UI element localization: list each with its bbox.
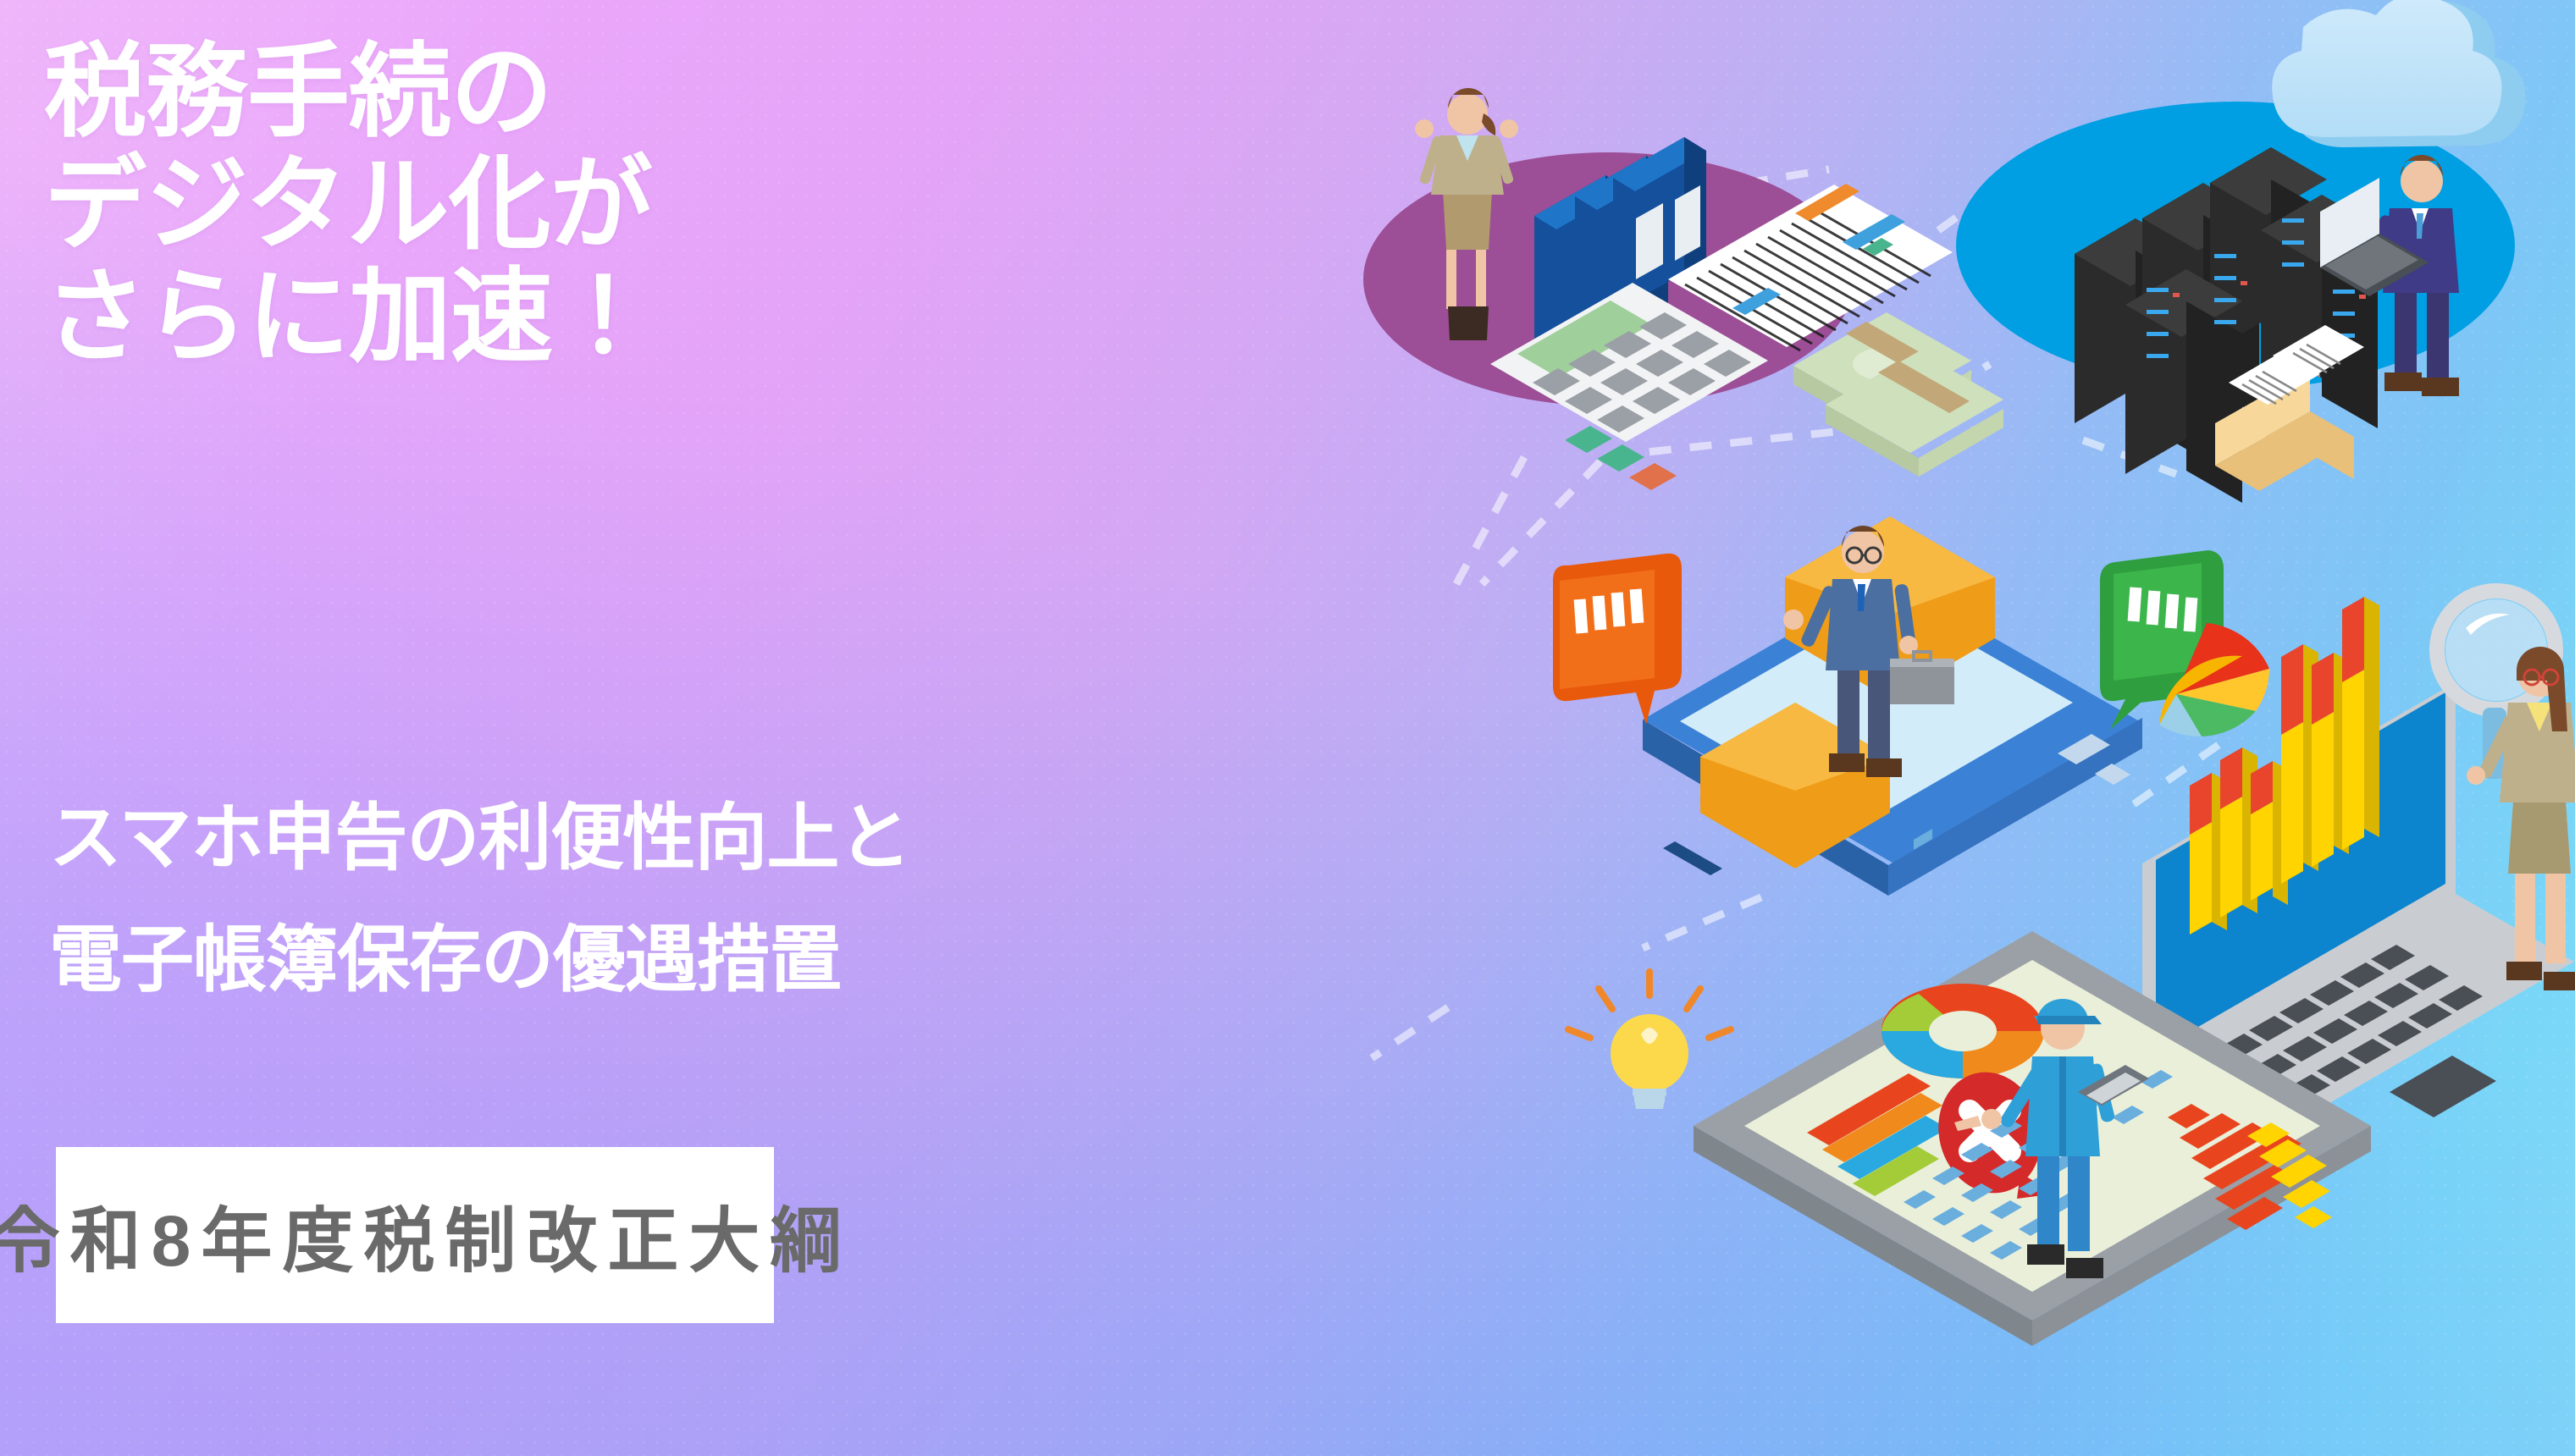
text-content-block: 税務手続の デジタル化が さらに加速！ スマホ申告の利便性向上と 電子帳簿保存の… [0, 0, 999, 1456]
donut-chart [1882, 984, 2044, 1078]
scene-cloud-server-room [1956, 0, 2525, 503]
status-badge-label: 令和8年度税制改正大綱 [0, 1184, 851, 1287]
light-bulb-icon [1568, 972, 1731, 1109]
scene-accounting-desk [1363, 88, 2003, 490]
poster-canvas: 税務手続の デジタル化が さらに加速！ スマホ申告の利便性向上と 電子帳簿保存の… [0, 0, 2575, 1456]
page-subtitle: スマホ申告の利便性向上と 電子帳簿保存の優遇措置 [49, 777, 910, 1021]
cloud-icon [2272, 0, 2525, 147]
orange-speech-bubble [1553, 554, 1682, 725]
page-title: 税務手続の デジタル化が さらに加速！ [44, 36, 654, 373]
scene-smartphone-messaging [1553, 516, 2224, 896]
isometric-illustration [1321, 0, 2575, 1456]
status-badge: 令和8年度税制改正大綱 [56, 1147, 774, 1323]
